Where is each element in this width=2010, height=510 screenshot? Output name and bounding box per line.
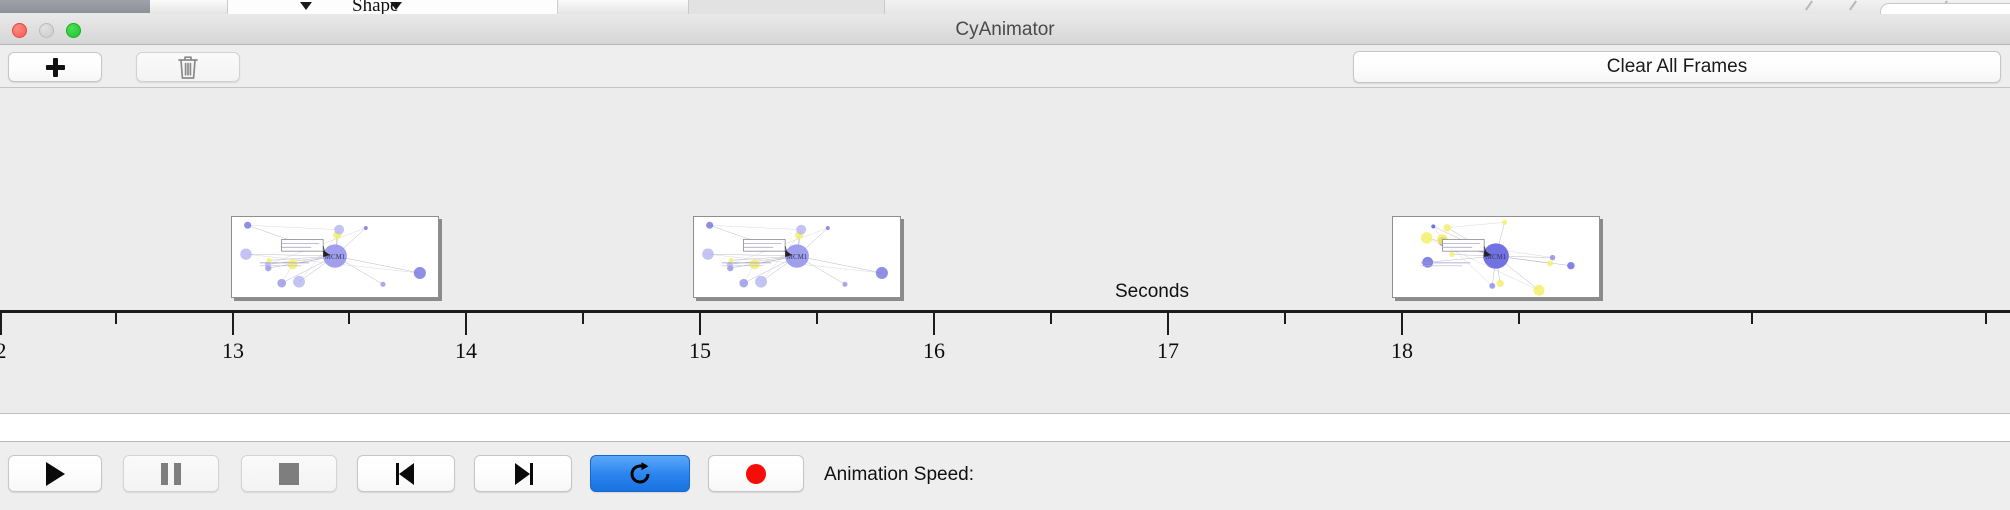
animation-speed-group: Animation Speed:: [0, 442, 2010, 510]
background-tab-segment: [150, 0, 228, 14]
background-caret-icon: [300, 2, 312, 10]
timeline-tick-label: 18: [1391, 338, 1413, 364]
frame-thumbnails-layer: MCM1 MCM1 MCM1: [0, 88, 2010, 308]
network-thumbnail-graphic: MCM1: [232, 217, 438, 297]
timeline-tick-major: [1167, 313, 1169, 335]
timeline-tick-label: 16: [923, 338, 945, 364]
timeline-tick-minor: [816, 313, 818, 324]
clear-all-frames-button[interactable]: Clear All Frames: [1353, 51, 2001, 83]
timeline-tick-minor: [1751, 313, 1753, 324]
timeline-tick-major: [933, 313, 935, 335]
frame-thumbnail[interactable]: MCM1: [693, 216, 901, 298]
delete-frame-button[interactable]: [136, 52, 240, 82]
timeline-panel[interactable]: MCM1 MCM1 MCM1: [0, 88, 2010, 414]
background-window-strip: Shape: [0, 0, 2010, 14]
timeline-tick-label: 2: [0, 338, 7, 364]
timeline-tick-label: 13: [222, 338, 244, 364]
background-tab-segment: [689, 0, 885, 14]
network-thumbnail-graphic: MCM1: [1393, 217, 1599, 297]
plus-icon: [46, 58, 65, 77]
playback-control-bar: Animation Speed:: [0, 441, 2010, 510]
network-thumbnail-graphic: MCM1: [694, 217, 900, 297]
timeline-tick-minor: [348, 313, 350, 324]
clear-all-frames-label: Clear All Frames: [1607, 56, 1747, 78]
frame-thumbnail[interactable]: MCM1: [231, 216, 439, 298]
window-title-bar: CyAnimator: [0, 14, 2010, 45]
timeline-tick-major: [465, 313, 467, 335]
timeline-tick-major: [232, 313, 234, 335]
animation-speed-label: Animation Speed:: [824, 464, 974, 486]
timeline-tick-minor: [115, 313, 117, 324]
trash-icon: [177, 54, 199, 80]
background-tab-segment: [559, 0, 689, 14]
timeline-axis-line: [0, 310, 2010, 313]
frame-thumbnail[interactable]: MCM1: [1392, 216, 1600, 298]
background-window-corner: [1880, 3, 2010, 14]
timeline-tick-label: 17: [1157, 338, 1179, 364]
timeline-tick-minor: [1284, 313, 1286, 324]
timeline-tick-major: [0, 313, 2, 335]
timeline-tick-minor: [1985, 313, 1987, 324]
timeline-tick-minor: [582, 313, 584, 324]
timeline-tick-label: 15: [689, 338, 711, 364]
background-window-label: Shape: [352, 0, 398, 14]
background-hatch: [1849, 0, 1857, 10]
background-hatch: [1805, 0, 1813, 10]
background-toolbar-dark: [0, 0, 150, 13]
timeline-tick-minor: [1518, 313, 1520, 324]
timeline-tick-major: [699, 313, 701, 335]
window-title: CyAnimator: [0, 14, 2010, 45]
timeline-tick-minor: [1050, 313, 1052, 324]
timeline-axis-title: Seconds: [1115, 281, 1189, 303]
timeline-tick-major: [1401, 313, 1403, 335]
timeline-tick-label: 14: [455, 338, 477, 364]
add-frame-button[interactable]: [8, 52, 102, 82]
frames-toolbar: Clear All Frames: [0, 45, 2010, 88]
